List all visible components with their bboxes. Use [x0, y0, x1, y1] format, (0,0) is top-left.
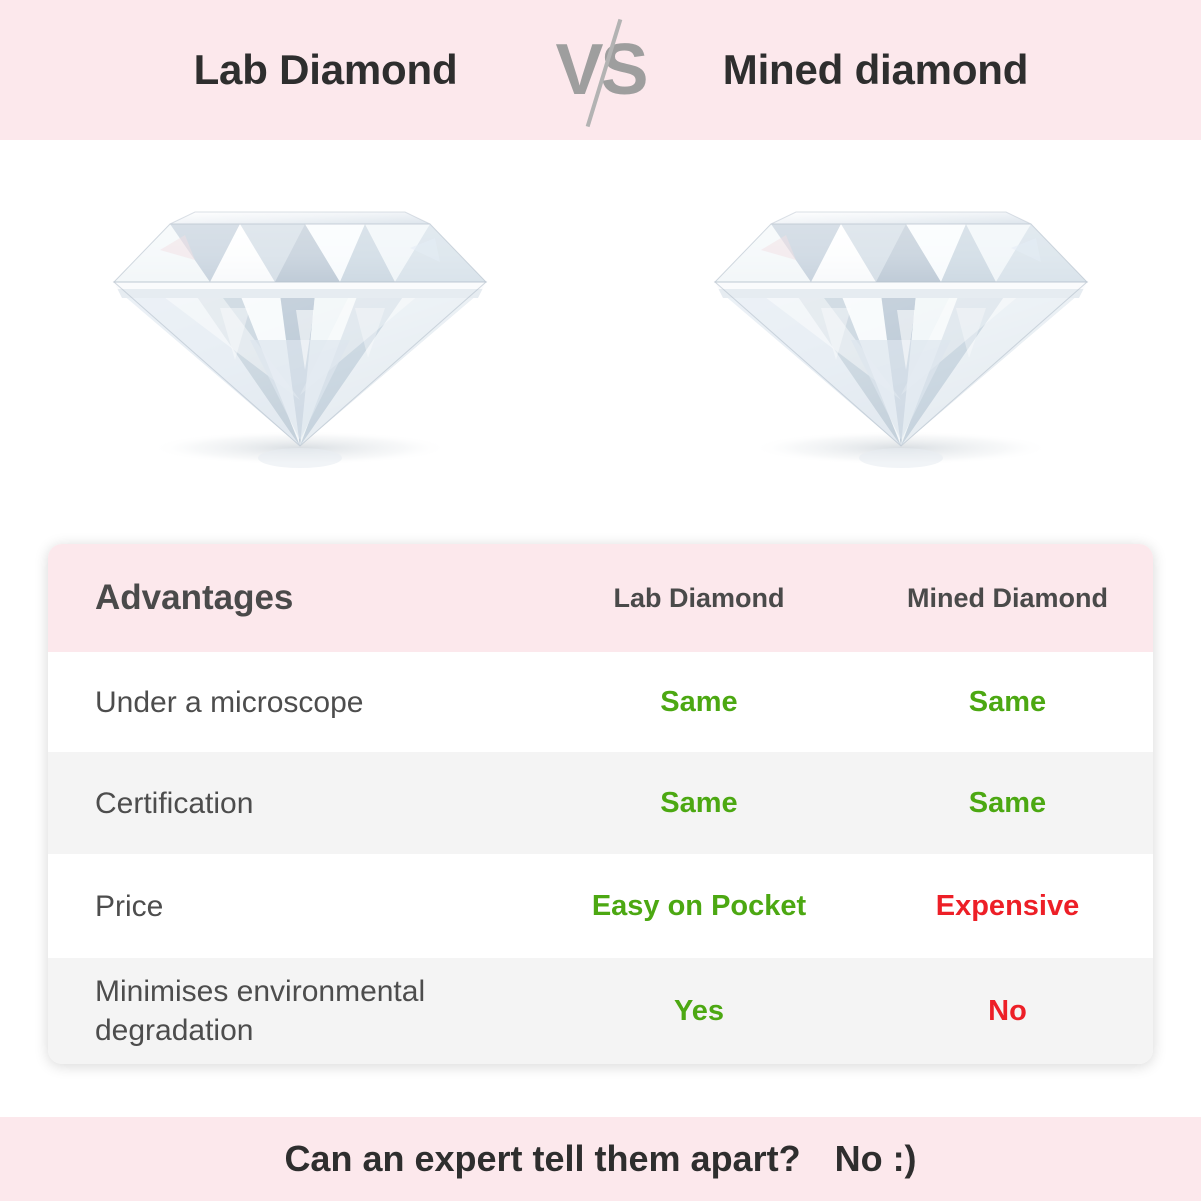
table-row: Under a microscope Same Same — [48, 652, 1153, 752]
row-label-text: Minimises environmental degradation — [95, 972, 526, 1050]
header-cell-mined: Mined Diamond — [872, 544, 1153, 652]
row-mined-cell: Expensive — [872, 854, 1153, 958]
row-label-text: Certification — [95, 784, 253, 823]
diamond-icon — [701, 190, 1101, 480]
row-lab-value: Same — [660, 686, 737, 719]
row-label-cell: Under a microscope — [48, 652, 542, 752]
row-lab-cell: Same — [542, 652, 872, 752]
header-label-advantages: Advantages — [95, 578, 293, 618]
row-label-cell: Minimises environmental degradation — [48, 958, 542, 1064]
comparison-table: Advantages Lab Diamond Mined Diamond Und… — [48, 544, 1153, 1064]
diamond-images-row — [0, 140, 1201, 530]
left-title: Lab Diamond — [116, 46, 536, 94]
diamond-icon — [100, 190, 500, 480]
row-lab-value: Yes — [674, 995, 724, 1028]
row-lab-cell: Yes — [542, 958, 872, 1064]
row-mined-value: Same — [969, 787, 1046, 820]
top-banner: Lab Diamond VS Mined diamond — [0, 0, 1201, 140]
footer-question: Can an expert tell them apart? — [284, 1138, 800, 1180]
row-label-text: Price — [95, 887, 163, 926]
vs-badge: VS — [536, 11, 666, 129]
vs-label: VS — [536, 34, 666, 106]
row-mined-value: No — [988, 995, 1027, 1028]
right-title: Mined diamond — [666, 46, 1086, 94]
bottom-banner: Can an expert tell them apart? No :) — [0, 1117, 1201, 1201]
row-mined-value: Same — [969, 686, 1046, 719]
row-mined-cell: Same — [872, 652, 1153, 752]
header-cell-lab: Lab Diamond — [542, 544, 872, 652]
row-mined-cell: Same — [872, 752, 1153, 854]
row-lab-cell: Same — [542, 752, 872, 854]
row-label-text: Under a microscope — [95, 683, 363, 722]
row-label-cell: Certification — [48, 752, 542, 854]
row-mined-cell: No — [872, 958, 1153, 1064]
table-header-row: Advantages Lab Diamond Mined Diamond — [48, 544, 1153, 652]
header-label-mined-diamond: Mined Diamond — [907, 583, 1108, 614]
footer-answer: No :) — [835, 1138, 917, 1180]
row-lab-value: Same — [660, 787, 737, 820]
comparison-infographic: Lab Diamond VS Mined diamond — [0, 0, 1201, 1201]
lab-diamond-image — [0, 140, 600, 530]
table-row: Price Easy on Pocket Expensive — [48, 854, 1153, 958]
row-lab-value: Easy on Pocket — [592, 890, 806, 923]
table-row: Minimises environmental degradation Yes … — [48, 958, 1153, 1064]
header-label-lab-diamond: Lab Diamond — [613, 583, 784, 614]
table-row: Certification Same Same — [48, 752, 1153, 854]
header-cell-advantages: Advantages — [48, 544, 542, 652]
row-mined-value: Expensive — [936, 890, 1079, 923]
row-lab-cell: Easy on Pocket — [542, 854, 872, 958]
row-label-cell: Price — [48, 854, 542, 958]
mined-diamond-image — [600, 140, 1201, 530]
